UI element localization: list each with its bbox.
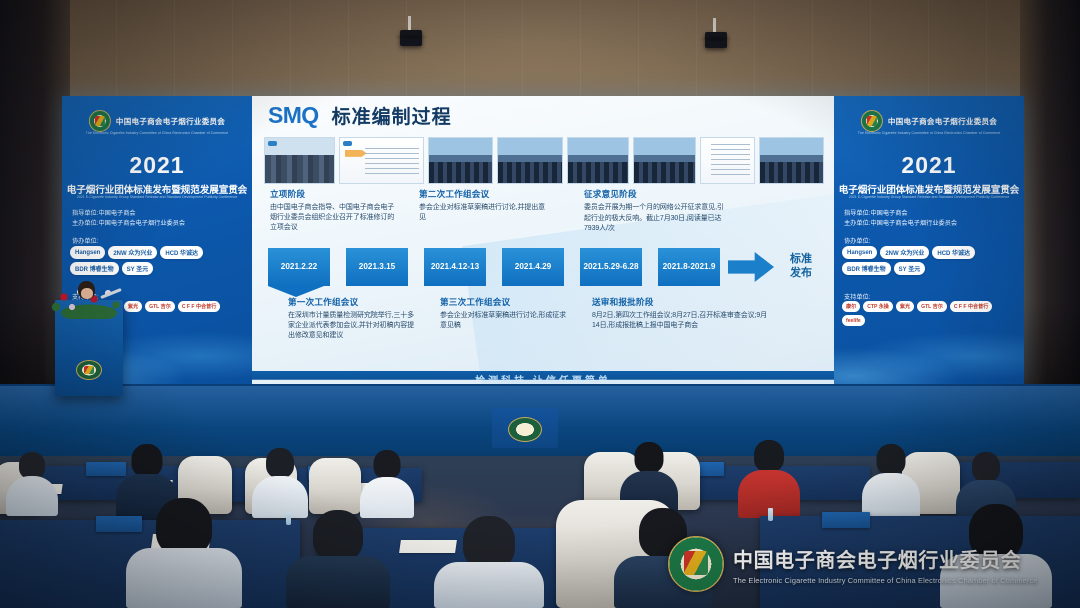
led-screen: 中国电子商会电子烟行业委员会 The Electronic Cigarette …: [62, 96, 1024, 386]
cosponsor-logo-grid: Hangsen 2NW 众为兴业 HCD 华诚达 BDR 博睿生物 SY 圣元: [842, 246, 1016, 275]
caption-heading: 第二次工作组会议: [419, 188, 547, 200]
photo-arrow-highlight: [345, 150, 367, 157]
photo-seminar-discussion: [633, 137, 696, 184]
timeline-step-1: 2021.2.22: [268, 248, 330, 286]
projector-icon: [400, 30, 422, 46]
timeline-step-3: 2021.4.12-13: [424, 248, 486, 286]
sponsor-logo: BDR 博睿生物: [842, 262, 891, 275]
sponsor-logo: SY 圣元: [894, 262, 926, 275]
banner-org-name: 中国电子商会电子烟行业委员会: [116, 116, 225, 127]
audience-body: [126, 548, 242, 608]
smq-logo: SMQ: [268, 104, 319, 127]
banner-units: 指导单位:中国电子商会 主办单位:中国电子商会电子烟行业委员会: [72, 209, 185, 228]
photo-strip: [264, 137, 824, 182]
audience-head: [877, 444, 906, 475]
timeline-date: 2021.3.15: [359, 262, 395, 272]
timeline-step-6: 2021.8-2021.9: [658, 248, 720, 286]
sponsor-logo: C F F 中合普行: [178, 301, 221, 312]
caption-body: 委员会开展为期一个月的网络公开征求意见,引起行业的极大反响。截止7月30日,阅读…: [584, 203, 724, 235]
caption-phase-4: 第一次工作组会议 在深圳市计量质量检测研究院举行,三十多家企业派代表参加会议,并…: [288, 296, 416, 341]
name-placard: [822, 512, 870, 528]
banner-year: 2021: [129, 154, 184, 177]
audience-member: [126, 498, 242, 608]
presentation-slide: SMQ 标准编制过程: [252, 96, 834, 386]
audience-body: [862, 473, 920, 518]
timeline-date: 2021.2.22: [281, 262, 317, 272]
timeline-date: 2021.4.29: [515, 262, 551, 272]
photo-content: [265, 155, 334, 183]
speaker-at-podium: [72, 281, 102, 311]
audience-member: [360, 450, 414, 518]
sponsor-logo: CTP 永操: [863, 301, 893, 312]
photo-content: [760, 138, 823, 183]
sponsor-logo: feelife: [842, 315, 865, 326]
banner-guidance-unit: 指导单位:中国电子商会: [72, 209, 185, 219]
audience-chair: [309, 458, 361, 514]
slide-title: 标准编制过程: [332, 108, 452, 127]
watermark-cn: 中国电子商会电子烟行业委员会: [733, 544, 1038, 573]
photo-meeting-room: [497, 137, 562, 184]
banner-host-unit: 主办单位:中国电子商会电子烟行业委员会: [72, 219, 185, 229]
audience-member: [252, 448, 308, 518]
caption-body: 参会企业对标准草案稿进行讨论,形成征求意见稿: [440, 311, 568, 331]
banner-cosponsor-label: 协办单位:: [844, 236, 870, 245]
audience-head: [313, 510, 363, 562]
audience-head: [266, 448, 294, 478]
photo-document-page: [339, 137, 424, 184]
banner-units: 指导单位:中国电子商会 主办单位:中国电子商会电子烟行业委员会: [844, 209, 957, 228]
caption-body: 参会企业对标准草案稿进行讨论,并提出意见: [419, 203, 547, 223]
banner-title-en: 2021 E-Cigarette Industry Group Standard…: [836, 195, 1022, 199]
banner-org-name-en: The Electronic Cigarette Industry Commit…: [86, 131, 228, 135]
ecc-seal-icon: [76, 360, 102, 380]
stage-front-panel: [492, 408, 558, 448]
audience-member: [862, 444, 920, 518]
conference-banner-right: 中国电子商会电子烟行业委员会 The Electronic Cigarette …: [834, 96, 1024, 386]
sponsor-logo: Hangsen: [70, 246, 105, 259]
caption-phase-1: 立项阶段 由中国电子商会指导、中国电子商会电子烟行业委员会组织企业召开了标准修订…: [270, 188, 398, 233]
sponsor-logo: HCD 华诚达: [932, 246, 975, 259]
caption-heading: 立项阶段: [270, 188, 398, 200]
photo-conference-audience: [567, 137, 630, 184]
sponsor-logo: 2NW 众为兴业: [108, 246, 157, 259]
projector-icon: [705, 32, 727, 48]
timeline-end-line-2: 发布: [779, 266, 823, 280]
caption-phase-5: 第三次工作组会议 参会企业对标准草案稿进行讨论,形成征求意见稿: [440, 296, 568, 331]
sponsor-logo: BDR 博睿生物: [70, 262, 119, 275]
sponsor-logo: SY 圣元: [122, 262, 154, 275]
audience-body: [286, 556, 390, 608]
photo-review-document: [700, 137, 754, 184]
audience-head: [374, 450, 401, 479]
photo-content: [498, 138, 561, 183]
banner-org-name: 中国电子商会电子烟行业委员会: [888, 116, 997, 127]
caption-phase-6: 送审和报批阶段 8月2日,第四次工作组会议;8月27日,召开标准审查会议;9月1…: [592, 296, 768, 331]
photo-badge: [343, 141, 352, 146]
banner-year: 2021: [901, 154, 956, 177]
sponsor-logo: C F F 中合普行: [950, 301, 993, 312]
audience-head: [132, 444, 163, 477]
sponsor-logo: HCD 华诚达: [160, 246, 203, 259]
photo-content: [634, 138, 695, 183]
watermark-en: The Electronic Cigarette Industry Commit…: [733, 576, 1038, 585]
audience-head: [635, 442, 664, 473]
banner-title-en: 2021 E-Cigarette Industry Group Standard…: [64, 195, 250, 199]
sponsor-logo: GTL 吉尔: [917, 301, 947, 312]
caption-body: 由中国电子商会指导、中国电子商会电子烟行业委员会组织企业召开了标准修订的立项会议: [270, 203, 398, 233]
banner-org-logo: 中国电子商会电子烟行业委员会: [861, 110, 997, 132]
slide-header: SMQ 标准编制过程: [268, 104, 452, 127]
banner-org-logo: 中国电子商会电子烟行业委员会: [89, 110, 225, 132]
conference-photo: 中国电子商会电子烟行业委员会 The Electronic Cigarette …: [0, 0, 1080, 608]
audience-member: [6, 452, 58, 516]
timeline-step-5: 2021.5.29-6.28: [580, 248, 642, 286]
banner-title: 电子烟行业团体标准发布暨规范发展宣贯会: [65, 182, 249, 196]
timeline-end-label: 标准 发布: [779, 252, 823, 281]
photo-content: [429, 138, 492, 183]
banner-title: 电子烟行业团体标准发布暨规范发展宣贯会: [837, 182, 1021, 196]
photo-auditorium: [759, 137, 824, 184]
sponsor-logo: 2NW 众为兴业: [880, 246, 929, 259]
audience-body: [6, 476, 58, 516]
photo-text-lines: [711, 144, 751, 176]
ecc-seal-icon: [668, 536, 724, 592]
caption-body: 8月2日,第四次工作组会议;8月27日,召开标准审查会议;9月14日,形成报批稿…: [592, 311, 768, 331]
timeline-date: 2021.8-2021.9: [663, 262, 716, 272]
photo-group-standing: [264, 137, 335, 184]
cosponsor-logo-grid: Hangsen 2NW 众为兴业 HCD 华诚达 BDR 博睿生物 SY 圣元: [70, 246, 244, 275]
watermark-text: 中国电子商会电子烟行业委员会 The Electronic Cigarette …: [733, 544, 1038, 585]
water-bottle: [768, 508, 773, 521]
audience-body: [434, 562, 544, 608]
photo-text-lines: [365, 148, 420, 176]
timeline-date: 2021.5.29-6.28: [583, 262, 638, 272]
ecc-seal-icon: [861, 110, 883, 132]
audience-head: [754, 440, 784, 472]
watermark: 中国电子商会电子烟行业委员会 The Electronic Cigarette …: [668, 536, 1038, 592]
ecc-seal-icon: [508, 417, 542, 442]
timeline-step-2: 2021.3.15: [346, 248, 408, 286]
photo-badge: [268, 141, 277, 146]
ecc-seal-icon: [89, 110, 111, 132]
timeline-date: 2021.4.12-13: [431, 262, 479, 272]
caption-heading: 第一次工作组会议: [288, 296, 416, 308]
caption-heading: 第三次工作组会议: [440, 296, 568, 308]
timeline-step-4: 2021.4.29: [502, 248, 564, 286]
banner-org-name-en: The Electronic Cigarette Industry Commit…: [858, 131, 1000, 135]
banner-cosponsor-label: 协办单位:: [72, 236, 98, 245]
banner-support-label: 支持单位:: [844, 292, 870, 301]
support-logo-grid: 康尔 CTP 永操 紫光 GTL 吉尔 C F F 中合普行 feelife: [842, 301, 1016, 326]
caption-phase-3: 征求意见阶段 委员会开展为期一个月的网络公开征求意见,引起行业的极大反响。截止7…: [584, 188, 724, 235]
photo-group-lineup: [428, 137, 493, 184]
caption-heading: 征求意见阶段: [584, 188, 724, 200]
caption-heading: 送审和报批阶段: [592, 296, 768, 308]
caption-body: 在深圳市计量质量检测研究院举行,三十多家企业派代表参加会议,并针对初稿内容提出修…: [288, 311, 416, 341]
sponsor-logo: 康尔: [842, 301, 860, 312]
caption-phase-2: 第二次工作组会议 参会企业对标准草案稿进行讨论,并提出意见: [419, 188, 547, 223]
banner-host-unit: 主办单位:中国电子商会电子烟行业委员会: [844, 219, 957, 229]
banner-guidance-unit: 指导单位:中国电子商会: [844, 209, 957, 219]
speaker-face: [81, 288, 93, 299]
audience-head: [972, 452, 1000, 482]
sponsor-logo: GTL 吉尔: [145, 301, 175, 312]
photo-content: [568, 138, 629, 183]
timeline-end-line-1: 标准: [779, 252, 823, 266]
audience-member: [286, 510, 390, 608]
audience-member: [738, 440, 800, 518]
audience-head: [19, 452, 45, 479]
audience-member: [434, 516, 544, 608]
sponsor-logo: 紫光: [896, 301, 914, 312]
sponsor-logo: Hangsen: [842, 246, 877, 259]
